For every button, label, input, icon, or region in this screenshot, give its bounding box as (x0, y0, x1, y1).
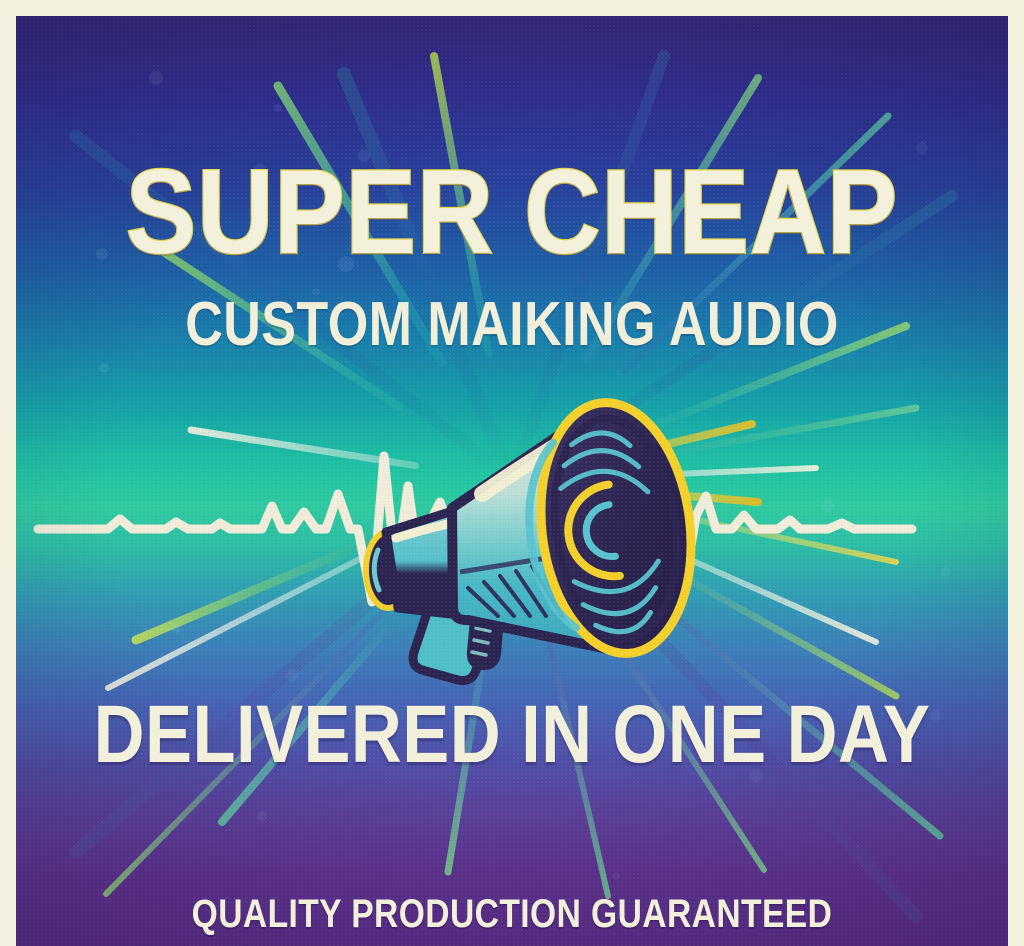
poster-artwork: SUPER CHEAP CUSTOM MAIKING AUDIO DELIVER… (16, 16, 1008, 946)
headline-primary: SUPER CHEAP (76, 156, 949, 269)
headline-delivery: DELIVERED IN ONE DAY (85, 694, 938, 776)
tagline: QUALITY PRODUCTION GUARANTEED (95, 894, 928, 934)
headline-secondary: CUSTOM MAIKING AUDIO (95, 294, 928, 356)
poster-frame: SUPER CHEAP CUSTOM MAIKING AUDIO DELIVER… (0, 0, 1024, 946)
